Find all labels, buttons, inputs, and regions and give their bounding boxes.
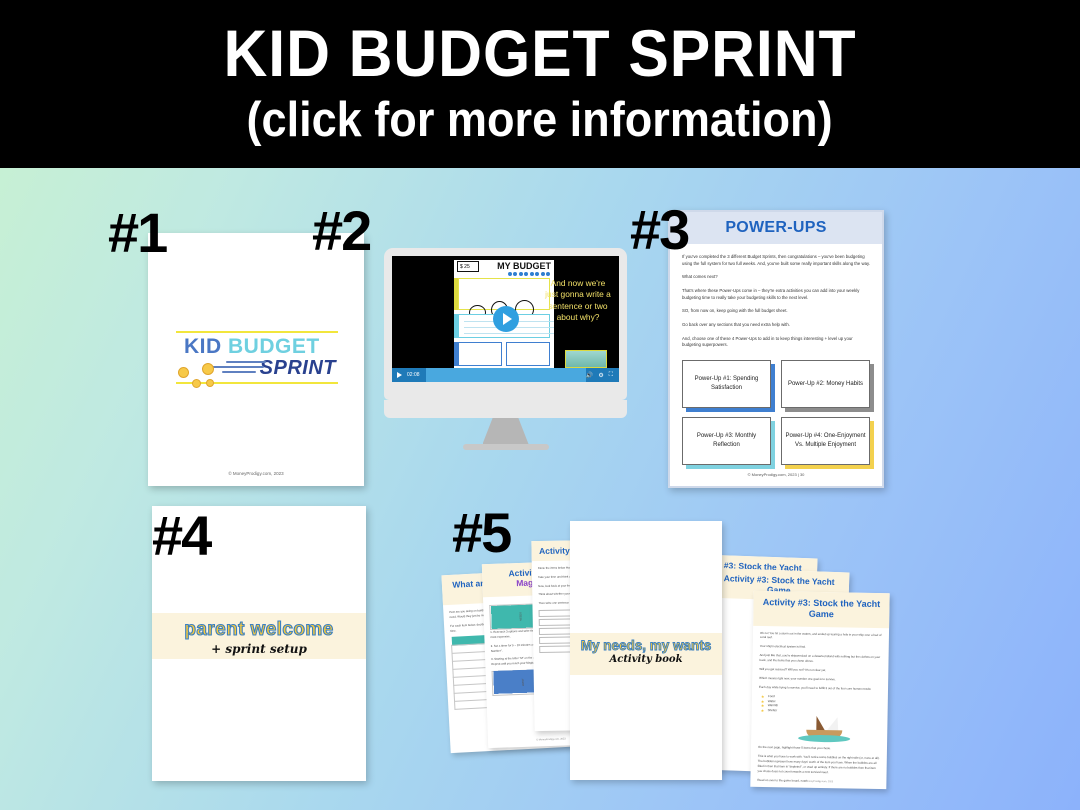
logo-word-budget: BUDGET — [228, 335, 320, 358]
video-screen[interactable]: $ 25 MY BUDGET — [392, 256, 619, 382]
coin-icon — [178, 367, 189, 378]
video-caption: And now we're just gonna write a sentenc… — [543, 278, 613, 323]
page-subtitle: (click for more information) — [247, 94, 833, 148]
page-title: KID BUDGET SPRINT — [224, 20, 857, 87]
volume-icon[interactable]: 🔊 — [586, 372, 593, 379]
page-g-body: Oh no! You hit a storm out in the waters… — [750, 625, 889, 789]
play-button-icon[interactable] — [397, 372, 402, 378]
logo-line-one: KID BUDGET — [184, 335, 338, 359]
slide-header: $ 25 MY BUDGET — [454, 260, 554, 272]
power-up-box-3[interactable]: Power-Up #3: Monthly Reflection — [682, 417, 771, 465]
core-needs-list: Food Water Warmth Shelter — [761, 694, 881, 714]
power-ups-footer: © MoneyProdigy.com, 2023 | 30 — [670, 472, 882, 477]
page-g-paragraph: Each day while trying to survive, you'll… — [759, 685, 881, 692]
power-ups-paragraph: SO, from now on, keep going with the ful… — [682, 308, 870, 315]
page-g-paragraph: Which means right now, your number one g… — [759, 676, 881, 683]
activity-book-band: My needs, my wants Activity book — [570, 633, 722, 675]
logo-rule-top — [176, 331, 338, 333]
label-item-2: #2 — [312, 203, 370, 259]
page-g-paragraph: Oh no! You hit a storm out in the waters… — [760, 630, 882, 642]
coin-icon — [192, 379, 201, 388]
label-item-4: #4 — [152, 508, 210, 564]
sailboat-icon — [798, 716, 850, 743]
play-icon[interactable] — [493, 306, 519, 332]
sailboat-water — [798, 735, 850, 743]
activity-book-subtitle: Activity book — [570, 654, 722, 665]
page-g-paragraph: Will you get rescued? Will you not? It's… — [759, 667, 881, 674]
label-item-1: #1 — [108, 205, 166, 261]
fullscreen-icon[interactable]: ⛶ — [609, 372, 613, 379]
progress-dots — [508, 272, 551, 276]
video-control-bar[interactable]: 02:08 🔊 ⚙ ⛶ — [392, 368, 619, 382]
activity-book-title: My needs, my wants — [570, 633, 722, 653]
need-item: Shelter — [761, 707, 881, 714]
gear-icon[interactable]: ⚙ — [598, 372, 603, 379]
caption-thumbnail — [565, 350, 607, 368]
power-ups-paragraph: If you've completed the 3 different Budg… — [682, 254, 870, 267]
power-ups-grid: Power-Up #1: Spending Satisfaction Power… — [670, 356, 882, 465]
monitor-stand-base — [463, 444, 549, 450]
parent-welcome-title: parent welcome — [152, 613, 366, 641]
video-progress-bar[interactable] — [426, 368, 586, 382]
power-ups-title: POWER-UPS — [725, 219, 826, 237]
power-ups-body: If you've completed the 3 different Budg… — [670, 244, 882, 349]
power-ups-paragraph: Go back over any sections that you need … — [682, 322, 870, 329]
label-item-5: #5 — [452, 505, 510, 561]
activity-book-cover[interactable]: My needs, my wants Activity book — [570, 521, 722, 780]
video-control-icons: 🔊 ⚙ ⛶ — [586, 372, 613, 379]
power-up-box-2[interactable]: Power-Up #2: Money Habits — [781, 360, 870, 408]
power-ups-paragraph: What comes next? — [682, 274, 870, 281]
page-g-paragraph-2: This is what you have to work with. You'… — [758, 754, 880, 776]
coin-icon — [202, 363, 214, 375]
worksheet-box-right — [506, 342, 550, 366]
power-ups-header-band: POWER-UPS — [670, 212, 882, 244]
page-g-band: Activity #3: Stock the Yacht Game — [753, 591, 890, 628]
label-item-3: #3 — [630, 202, 688, 258]
speed-lines-icon — [212, 361, 266, 376]
video-timestamp: 02:08 — [407, 372, 420, 378]
money-amount-box: $ 25 — [457, 261, 479, 272]
page-header[interactable]: KID BUDGET SPRINT (click for more inform… — [0, 0, 1080, 168]
worksheet-box-left — [458, 342, 502, 366]
power-up-box-4[interactable]: Power-Up #4: One-Enjoyment Vs. Multiple … — [781, 417, 870, 465]
power-up-box-1[interactable]: Power-Up #1: Spending Satisfaction — [682, 360, 771, 408]
stack-page-activity-3-yacht[interactable]: Activity #3: Stock the Yacht Game Oh no!… — [750, 591, 889, 789]
page-g-heading: Activity #3: Stock the Yacht Game — [759, 597, 883, 622]
coin-icon — [206, 379, 214, 387]
video-monitor-mockup[interactable]: $ 25 MY BUDGET — [384, 248, 627, 433]
parent-welcome-band: parent welcome + sprint setup — [152, 613, 366, 659]
monitor-chin — [384, 400, 627, 418]
power-ups-paragraph: And, choose one of these 4 Power-Ups to … — [682, 336, 870, 349]
parent-welcome-subtitle: + sprint setup — [152, 642, 366, 656]
power-ups-paragraph: That's where these Power-Ups come in – t… — [682, 288, 870, 301]
power-ups-page[interactable]: POWER-UPS If you've completed the 3 diff… — [668, 210, 884, 488]
monitor-body: $ 25 MY BUDGET — [384, 248, 627, 400]
page-g-paragraph: Your ship's electrical system is fried. — [760, 644, 882, 651]
cover-copyright: © MoneyProdigy.com, 2023 — [148, 471, 364, 476]
sailboat-mast — [816, 716, 825, 731]
logo-word-kid: KID — [184, 335, 222, 358]
product-card-cover[interactable]: KID BUDGET SPRINT © MoneyProdigy.com, 20… — [148, 233, 364, 486]
page-g-paragraph: And just like that, you're shipwrecked o… — [759, 653, 881, 665]
kid-budget-sprint-logo: KID BUDGET SPRINT — [176, 331, 338, 384]
page-g-paragraph-2: On the next page, highlight those 5 item… — [758, 745, 880, 752]
monitor-stand-neck — [483, 418, 529, 444]
slide-title: MY BUDGET — [497, 261, 551, 271]
